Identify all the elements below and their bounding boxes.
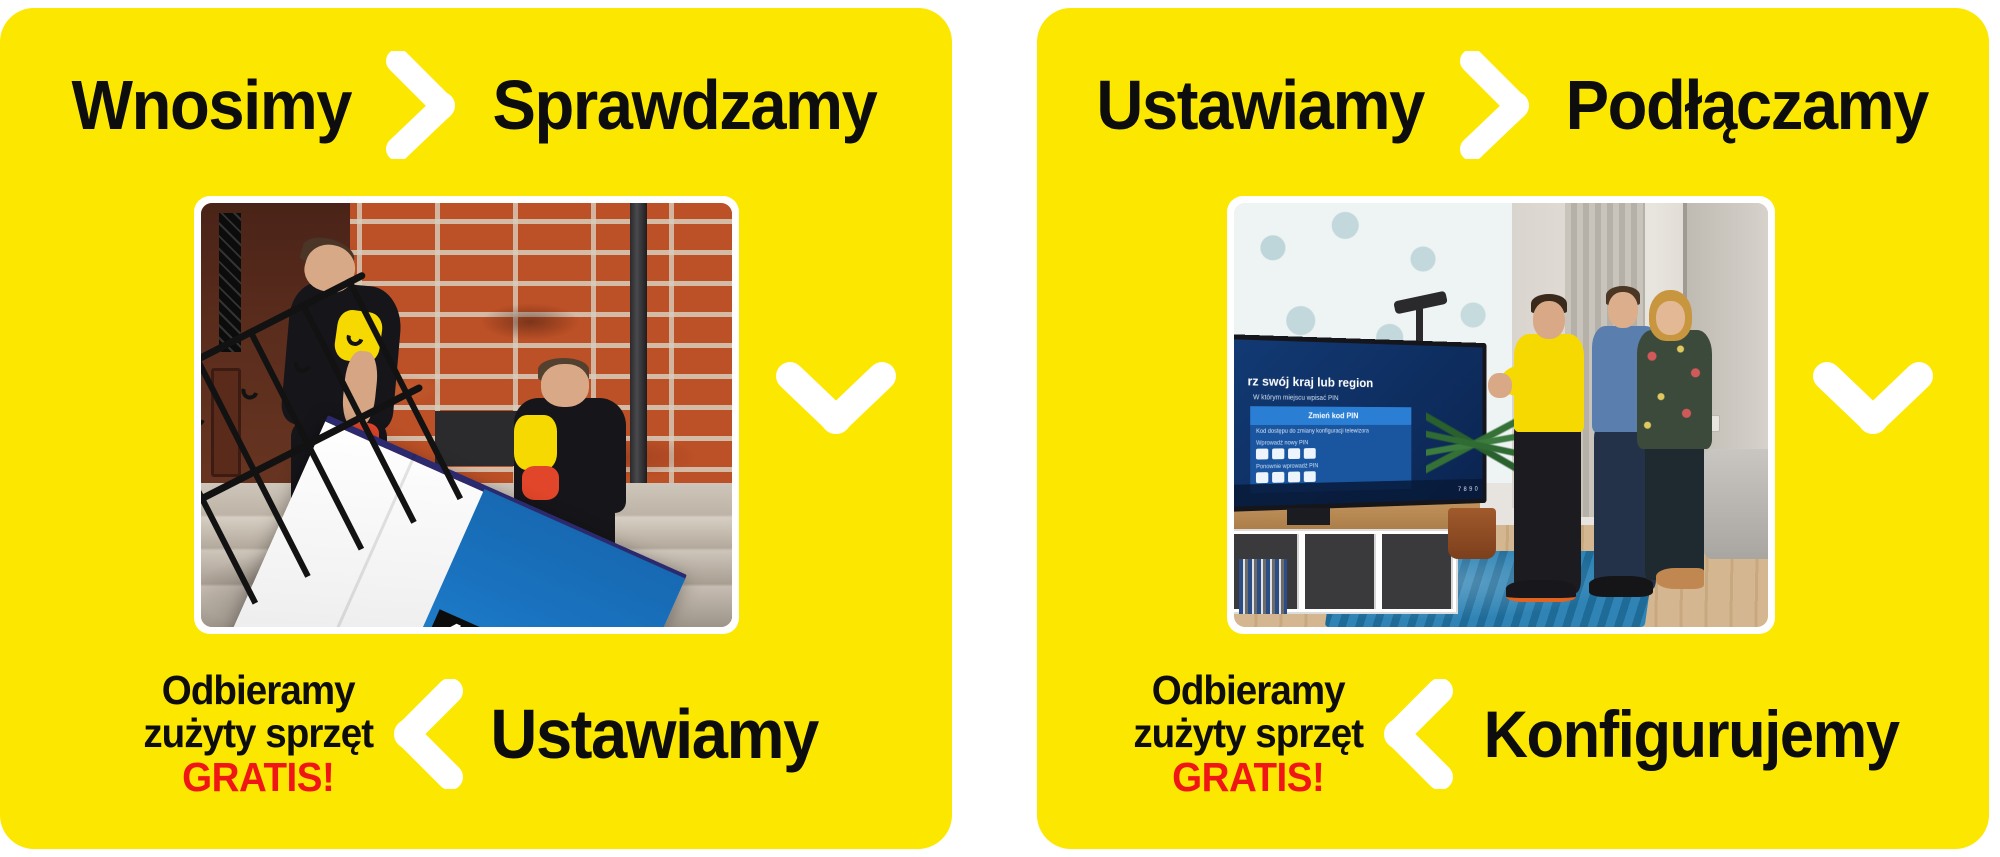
pin-box [1256, 449, 1268, 460]
sideboard-cubby [1382, 534, 1453, 609]
card-installation-bottom-row: Odbieramy zużyty sprzęt GRATIS! Konfigur… [1037, 659, 1989, 809]
step-label-podlaczamy: Podłączamy [1566, 70, 1928, 140]
pin-box [1304, 449, 1316, 460]
railing-scroll [238, 380, 261, 403]
service-card-installation: Ustawiamy Podłączamy [1037, 8, 1989, 849]
recycling-line-2: zużyty sprzęt [1133, 712, 1363, 755]
service-card-delivery: Wnosimy Sprawdzamy [0, 8, 952, 849]
recycling-line-2: zużyty sprzęt [143, 712, 373, 755]
technician-hand [1488, 373, 1512, 398]
books-on-shelf [1239, 559, 1287, 614]
installation-photo: rz swój kraj lub region W którym miejscu… [1234, 203, 1768, 627]
sofa [1704, 449, 1768, 559]
card-installation-top-row: Ustawiamy Podłączamy [1037, 50, 1989, 160]
customer-female-head [1656, 301, 1685, 336]
chevron-down-icon [776, 360, 896, 444]
technician-shoe [1506, 580, 1575, 601]
tv-stand [1287, 508, 1330, 525]
courier-lower-sleeve [514, 415, 556, 470]
service-steps-banner: Wnosimy Sprawdzamy [0, 0, 2000, 857]
customer-male-shoe [1589, 576, 1653, 597]
technician-pants [1514, 423, 1581, 593]
pin-box [1256, 473, 1268, 484]
customer-female-blouse [1637, 330, 1712, 449]
installation-photo-frame: rz swój kraj lub region W którym miejscu… [1227, 196, 1775, 634]
courier-lower-head [541, 364, 589, 406]
recycling-note: Odbieramy zużyty sprzęt GRATIS! [1126, 669, 1370, 799]
sideboard-cubby [1305, 534, 1376, 609]
step-label-ustawiamy-top: Ustawiamy [1096, 70, 1424, 140]
railing-scroll [291, 353, 314, 376]
delivery-photo-frame: 4K ULTRA HD [194, 196, 739, 634]
courier-lower-glove [522, 466, 559, 500]
pin-box [1304, 472, 1316, 483]
chevron-right-icon [1458, 51, 1530, 159]
pin-box [1288, 449, 1300, 460]
railing-scroll [201, 407, 208, 430]
pin-box [1273, 449, 1285, 460]
plant-pot [1448, 508, 1496, 559]
step-label-sprawdzamy: Sprawdzamy [492, 70, 876, 140]
pin-box [1273, 472, 1285, 483]
recycling-line-1: Odbieramy [1133, 669, 1363, 712]
customer-female-pants [1645, 440, 1704, 580]
railing-scroll [344, 326, 367, 349]
railing-post [201, 408, 205, 627]
card-delivery-bottom-row: Odbieramy zużyty sprzęt GRATIS! Ustawiam… [0, 659, 952, 809]
customer-male-head [1608, 292, 1638, 328]
tv-dialog-header: Zmień kod PIN [1251, 407, 1412, 426]
tv-screen-subtitle: W którym miejscu wpisać PIN [1253, 395, 1338, 403]
pin-box [1288, 472, 1300, 483]
card-delivery-top-row: Wnosimy Sprawdzamy [0, 50, 952, 160]
technician-head [1533, 301, 1565, 339]
chevron-left-icon [1380, 679, 1458, 789]
recycling-note: Odbieramy zużyty sprzęt GRATIS! [136, 669, 380, 799]
tv-screen-title: rz swój kraj lub region [1248, 374, 1374, 391]
step-label-wnosimy: Wnosimy [72, 70, 352, 140]
recycling-line-1: Odbieramy [143, 669, 373, 712]
chevron-left-icon [390, 679, 468, 789]
step-label-ustawiamy: Ustawiamy [490, 694, 818, 774]
delivery-photo: 4K ULTRA HD [201, 203, 732, 627]
chevron-down-icon [1813, 360, 1933, 444]
chevron-right-icon [384, 51, 456, 159]
recycling-free-badge: GRATIS! [143, 756, 373, 799]
customer-female-shoe [1656, 568, 1704, 589]
recycling-free-badge: GRATIS! [1133, 756, 1363, 799]
drain-pipe [630, 203, 648, 508]
step-label-konfigurujemy: Konfigurujemy [1484, 696, 1899, 772]
